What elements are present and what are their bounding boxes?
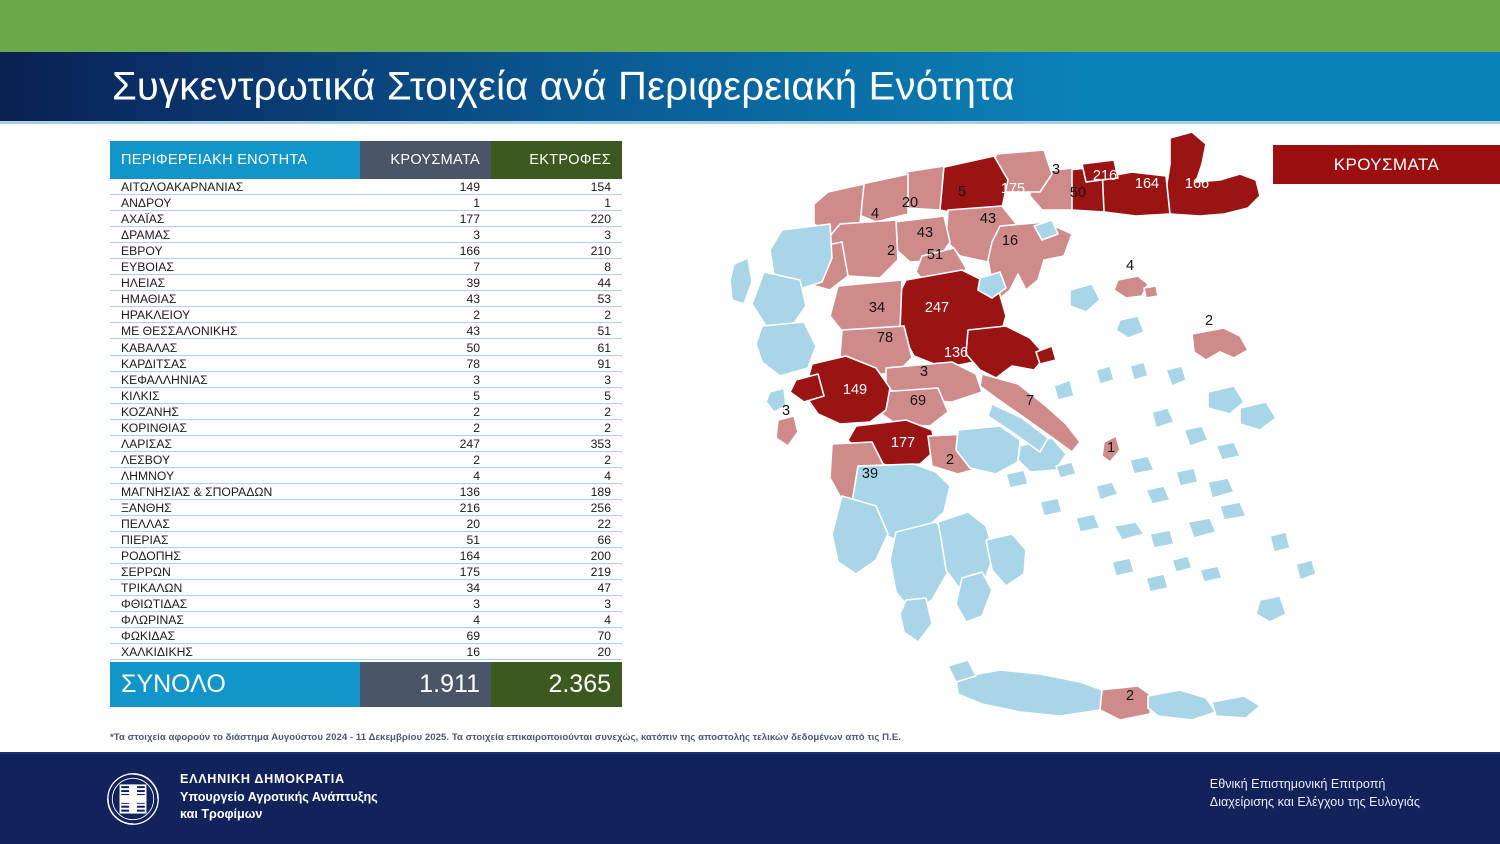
cell-farms: 2 — [491, 406, 622, 419]
greek-republic-crest-icon — [105, 771, 161, 827]
cell-region: ΣΕΡΡΩΝ — [110, 566, 360, 579]
cell-region: ΚΙΛΚΙΣ — [110, 390, 360, 403]
cell-cases: 43 — [360, 293, 491, 306]
map-region — [752, 272, 806, 326]
slide-root: Συγκεντρωτικά Στοιχεία ανά Περιφερειακή … — [0, 0, 1500, 844]
table-row: ΚΙΛΚΙΣ55 — [110, 388, 622, 404]
table-row: ΚΕΦΑΛΛΗΝΙΑΣ33 — [110, 372, 622, 388]
cell-region: ΦΘΙΩΤΙΔΑΣ — [110, 598, 360, 611]
table-row: ΗΜΑΘΙΑΣ4353 — [110, 291, 622, 307]
greece-map: 3216164166175505204344316251434247278136… — [700, 130, 1500, 730]
cell-cases: 4 — [360, 470, 491, 483]
cell-region: ΠΕΛΛΑΣ — [110, 518, 360, 531]
table-body: ΑΙΤΩΛΟΑΚΑΡΝΑΝΙΑΣ149154ΑΝΔΡΟΥ11ΑΧΑΪΑΣ1772… — [110, 179, 622, 660]
cell-cases: 177 — [360, 213, 491, 226]
map-value-label: 149 — [843, 382, 867, 398]
cell-cases: 7 — [360, 261, 491, 274]
cell-region: ΗΜΑΘΙΑΣ — [110, 293, 360, 306]
table-row: ΦΘΙΩΤΙΔΑΣ33 — [110, 596, 622, 612]
cell-cases: 20 — [360, 518, 491, 531]
cell-region: ΚΕΦΑΛΛΗΝΙΑΣ — [110, 374, 360, 387]
map-region — [986, 534, 1026, 586]
cell-farms: 44 — [491, 277, 622, 290]
page-title: Συγκεντρωτικά Στοιχεία ανά Περιφερειακή … — [112, 64, 1015, 109]
cell-cases: 3 — [360, 229, 491, 242]
map-region — [1144, 286, 1158, 298]
cell-cases: 166 — [360, 245, 491, 258]
committee-identity: Εθνική Επιστημονική Επιτροπή Διαχείρισης… — [1210, 775, 1420, 811]
map-value-label: 3 — [920, 364, 928, 380]
total-farms: 2.365 — [491, 662, 622, 707]
map-region — [776, 416, 798, 446]
cell-farms: 91 — [491, 358, 622, 371]
map-region — [1112, 558, 1134, 576]
cell-farms: 61 — [491, 342, 622, 355]
cell-cases: 164 — [360, 550, 491, 563]
map-region — [1130, 362, 1148, 380]
cell-farms: 210 — [491, 245, 622, 258]
cell-cases: 2 — [360, 454, 491, 467]
map-value-label: 1 — [1107, 440, 1115, 456]
cell-farms: 3 — [491, 229, 622, 242]
table-row: ΑΝΔΡΟΥ11 — [110, 195, 622, 211]
gov-line-1: ΕΛΛΗΝΙΚΗ ΔΗΜΟΚΡΑΤΙΑ — [180, 771, 378, 789]
map-region — [1152, 408, 1174, 428]
cell-farms: 1 — [491, 197, 622, 210]
cell-region: ΑΙΤΩΛΟΑΚΑΡΝΑΝΙΑΣ — [110, 181, 360, 194]
map-value-label: 166 — [1185, 176, 1209, 192]
map-value-label: 69 — [910, 393, 926, 409]
table-row: ΗΛΕΙΑΣ3944 — [110, 275, 622, 291]
cell-cases: 247 — [360, 438, 491, 451]
map-region — [1256, 596, 1286, 622]
cell-region: ΑΧΑΪΑΣ — [110, 213, 360, 226]
map-value-label: 4 — [871, 206, 879, 222]
map-region — [956, 572, 992, 622]
cell-region: ΚΑΡΔΙΤΣΑΣ — [110, 358, 360, 371]
map-region — [1054, 380, 1074, 400]
map-value-label: 34 — [869, 300, 885, 316]
cell-cases: 34 — [360, 582, 491, 595]
cell-region: ΚΑΒΑΛΑΣ — [110, 342, 360, 355]
cell-farms: 3 — [491, 598, 622, 611]
map-value-label: 175 — [1001, 181, 1025, 197]
table-row: ΛΗΜΝΟΥ44 — [110, 468, 622, 484]
table-row: ΛΕΣΒΟΥ22 — [110, 452, 622, 468]
gov-line-2: Υπουργείο Αγροτικής Ανάπτυξης — [180, 789, 378, 807]
title-bar: Συγκεντρωτικά Στοιχεία ανά Περιφερειακή … — [0, 52, 1500, 121]
cell-cases: 136 — [360, 486, 491, 499]
column-header-region: ΠΕΡΙΦΕΡΕΙΑΚΗ ΕΝΟΤΗΤΑ — [110, 141, 360, 179]
cell-cases: 43 — [360, 325, 491, 338]
map-region — [730, 258, 752, 304]
cell-region: ΧΑΛΚΙΔΙΚΗΣ — [110, 646, 360, 659]
map-value-label: 43 — [917, 225, 933, 241]
map-region — [1212, 696, 1260, 718]
cell-region: ΕΒΡΟΥ — [110, 245, 360, 258]
map-region — [1150, 530, 1174, 548]
table-row: ΞΑΝΘΗΣ216256 — [110, 500, 622, 516]
cell-farms: 20 — [491, 646, 622, 659]
cell-region: ΛΗΜΝΟΥ — [110, 470, 360, 483]
cell-region: ΜΑΓΝΗΣΙΑΣ & ΣΠΟΡΑΔΩΝ — [110, 486, 360, 499]
committee-line-2: Διαχείρισης και Ελέγχου της Ευλογιάς — [1210, 793, 1420, 811]
cell-farms: 8 — [491, 261, 622, 274]
cell-farms: 154 — [491, 181, 622, 194]
cell-cases: 50 — [360, 342, 491, 355]
table-row: ΗΡΑΚΛΕΙΟΥ22 — [110, 307, 622, 323]
map-value-label: 2 — [887, 243, 895, 259]
table-row: ΑΙΤΩΛΟΑΚΑΡΝΑΝΙΑΣ149154 — [110, 179, 622, 195]
cell-farms: 4 — [491, 470, 622, 483]
map-region — [1192, 328, 1248, 360]
cell-farms: 53 — [491, 293, 622, 306]
footnote: *Τα στοιχεία αφορούν το διάστημα Αυγούστ… — [110, 732, 1110, 743]
cell-cases: 78 — [360, 358, 491, 371]
map-value-label: 164 — [1135, 176, 1159, 192]
table-row: ΛΑΡΙΣΑΣ247353 — [110, 436, 622, 452]
cell-farms: 66 — [491, 534, 622, 547]
cell-farms: 3 — [491, 374, 622, 387]
cell-region: ΕΥΒΟΙΑΣ — [110, 261, 360, 274]
cell-farms: 2 — [491, 309, 622, 322]
map-region — [790, 374, 824, 402]
map-region — [956, 670, 1102, 716]
cell-farms: 5 — [491, 390, 622, 403]
map-region — [1146, 486, 1170, 504]
cell-cases: 16 — [360, 646, 491, 659]
map-region — [1076, 514, 1100, 532]
cell-region: ΗΛΕΙΑΣ — [110, 277, 360, 290]
cell-region: ΚΟΖΑΝΗΣ — [110, 406, 360, 419]
table-row: ΚΑΒΑΛΑΣ5061 — [110, 339, 622, 355]
map-region — [1200, 566, 1222, 582]
government-identity: ΕΛΛΗΝΙΚΗ ΔΗΜΟΚΡΑΤΙΑ Υπουργείο Αγροτικής … — [180, 771, 378, 824]
cell-cases: 2 — [360, 309, 491, 322]
table-row: ΚΑΡΔΙΤΣΑΣ7891 — [110, 356, 622, 372]
map-region — [756, 322, 816, 376]
column-header-farms: ΕΚΤΡΟΦΕΣ — [491, 141, 622, 179]
table-row: ΕΒΡΟΥ166210 — [110, 243, 622, 259]
map-region — [1166, 366, 1186, 386]
cell-farms: 353 — [491, 438, 622, 451]
map-region — [1220, 502, 1246, 520]
map-region — [1096, 366, 1114, 384]
cell-cases: 51 — [360, 534, 491, 547]
table-row: ΕΥΒΟΙΑΣ78 — [110, 259, 622, 275]
table-header-row: ΠΕΡΙΦΕΡΕΙΑΚΗ ΕΝΟΤΗΤΑ ΚΡΟΥΣΜΑΤΑ ΕΚΤΡΟΦΕΣ — [110, 141, 622, 179]
title-underline — [0, 121, 1500, 124]
table-row: ΡΟΔΟΠΗΣ164200 — [110, 548, 622, 564]
cell-cases: 69 — [360, 630, 491, 643]
cell-region: ΡΟΔΟΠΗΣ — [110, 550, 360, 563]
cell-region: ΛΕΣΒΟΥ — [110, 454, 360, 467]
map-region — [1116, 316, 1144, 338]
map-region — [1130, 456, 1154, 474]
cell-farms: 2 — [491, 454, 622, 467]
cell-farms: 189 — [491, 486, 622, 499]
legend-cases: ΚΡΟΥΣΜΑΤΑ — [1273, 145, 1500, 184]
map-value-label: 216 — [1093, 168, 1117, 184]
total-cases: 1.911 — [360, 662, 491, 707]
map-region — [1146, 574, 1168, 592]
cell-cases: 1 — [360, 197, 491, 210]
table-row: ΦΛΩΡΙΝΑΣ44 — [110, 612, 622, 628]
cell-farms: 51 — [491, 325, 622, 338]
cell-region: ΦΛΩΡΙΝΑΣ — [110, 614, 360, 627]
cell-cases: 3 — [360, 598, 491, 611]
map-value-label: 2 — [946, 452, 954, 468]
top-green-bar — [0, 0, 1500, 52]
map-value-label: 4 — [1126, 258, 1134, 274]
cell-farms: 200 — [491, 550, 622, 563]
map-region — [1240, 402, 1276, 430]
map-region — [1216, 442, 1240, 460]
cell-cases: 216 — [360, 502, 491, 515]
table-row: ΧΑΛΚΙΔΙΚΗΣ1620 — [110, 644, 622, 660]
cell-region: ΞΑΝΘΗΣ — [110, 502, 360, 515]
footer: ΕΛΛΗΝΙΚΗ ΔΗΜΟΚΡΑΤΙΑ Υπουργείο Αγροτικής … — [0, 754, 1500, 844]
cell-region: ΗΡΑΚΛΕΙΟΥ — [110, 309, 360, 322]
cell-cases: 3 — [360, 374, 491, 387]
cell-region: ΤΡΙΚΑΛΩΝ — [110, 582, 360, 595]
cell-cases: 5 — [360, 390, 491, 403]
cell-region: ΠΙΕΡΙΑΣ — [110, 534, 360, 547]
cell-farms: 256 — [491, 502, 622, 515]
map-region — [1148, 690, 1216, 720]
table-row: ΚΟΖΑΝΗΣ22 — [110, 404, 622, 420]
map-region — [1096, 482, 1118, 500]
cell-cases: 175 — [360, 566, 491, 579]
table-row: ΤΡΙΚΑΛΩΝ3447 — [110, 580, 622, 596]
cell-region: ΦΩΚΙΔΑΣ — [110, 630, 360, 643]
table-total-row: ΣΥΝΟΛΟ 1.911 2.365 — [110, 662, 622, 707]
map-region — [1208, 478, 1234, 498]
table-row: ΔΡΑΜΑΣ33 — [110, 227, 622, 243]
map-value-label: 136 — [944, 345, 968, 361]
map-svg: 3216164166175505204344316251434247278136… — [700, 130, 1500, 730]
map-region — [966, 326, 1046, 378]
map-value-label: 2 — [1126, 688, 1134, 704]
column-header-cases: ΚΡΟΥΣΜΑΤΑ — [360, 141, 491, 179]
table-row: ΣΕΡΡΩΝ175219 — [110, 564, 622, 580]
cell-farms: 220 — [491, 213, 622, 226]
table-row: ΦΩΚΙΔΑΣ6970 — [110, 628, 622, 644]
map-region — [1208, 386, 1244, 414]
cell-region: ΜΕ ΘΕΣΣΑΛΟΝΙΚΗΣ — [110, 325, 360, 338]
map-value-label: 2 — [1205, 313, 1213, 329]
map-region — [1114, 276, 1148, 298]
table-row: ΜΑΓΝΗΣΙΑΣ & ΣΠΟΡΑΔΩΝ136189 — [110, 484, 622, 500]
map-value-label: 3 — [1052, 162, 1060, 178]
map-region — [1176, 468, 1198, 486]
map-region — [1006, 470, 1028, 488]
map-region — [1184, 426, 1208, 446]
total-label: ΣΥΝΟΛΟ — [110, 662, 360, 707]
table-row: ΜΕ ΘΕΣΣΑΛΟΝΙΚΗΣ4351 — [110, 323, 622, 339]
map-region — [900, 598, 932, 642]
map-value-label: 51 — [927, 247, 943, 263]
cell-farms: 219 — [491, 566, 622, 579]
map-value-label: 5 — [958, 184, 966, 200]
map-region — [1188, 518, 1216, 538]
map-value-label: 20 — [902, 195, 918, 211]
cell-farms: 4 — [491, 614, 622, 627]
table-row: ΠΕΛΛΑΣ2022 — [110, 516, 622, 532]
cell-cases: 2 — [360, 422, 491, 435]
map-value-label: 247 — [925, 300, 949, 316]
cell-cases: 39 — [360, 277, 491, 290]
gov-line-3: και Τροφίμων — [180, 806, 378, 824]
cell-farms: 70 — [491, 630, 622, 643]
map-value-label: 7 — [1026, 393, 1034, 409]
map-region — [1166, 132, 1260, 216]
cell-region: ΑΝΔΡΟΥ — [110, 197, 360, 210]
map-value-label: 177 — [891, 435, 915, 451]
table-row: ΠΙΕΡΙΑΣ5166 — [110, 532, 622, 548]
table-row: ΑΧΑΪΑΣ177220 — [110, 211, 622, 227]
table-row: ΚΟΡΙΝΘΙΑΣ22 — [110, 420, 622, 436]
map-value-label: 3 — [782, 403, 790, 419]
cell-region: ΚΟΡΙΝΘΙΑΣ — [110, 422, 360, 435]
cell-cases: 2 — [360, 406, 491, 419]
map-region — [1114, 522, 1144, 540]
map-value-label: 39 — [862, 466, 878, 482]
cell-farms: 22 — [491, 518, 622, 531]
map-value-label: 50 — [1070, 185, 1086, 201]
cell-cases: 149 — [360, 181, 491, 194]
cell-farms: 2 — [491, 422, 622, 435]
map-region — [1040, 498, 1062, 516]
map-region — [1070, 284, 1100, 312]
map-region — [1172, 556, 1192, 572]
cell-farms: 47 — [491, 582, 622, 595]
map-region — [1270, 532, 1290, 552]
cell-region: ΛΑΡΙΣΑΣ — [110, 438, 360, 451]
map-value-label: 43 — [980, 211, 996, 227]
map-value-label: 16 — [1002, 233, 1018, 249]
cell-cases: 4 — [360, 614, 491, 627]
committee-line-1: Εθνική Επιστημονική Επιτροπή — [1210, 775, 1420, 793]
map-value-label: 78 — [877, 330, 893, 346]
map-region — [1296, 560, 1316, 580]
data-table: ΠΕΡΙΦΕΡΕΙΑΚΗ ΕΝΟΤΗΤΑ ΚΡΟΥΣΜΑΤΑ ΕΚΤΡΟΦΕΣ … — [110, 141, 622, 707]
cell-region: ΔΡΑΜΑΣ — [110, 229, 360, 242]
